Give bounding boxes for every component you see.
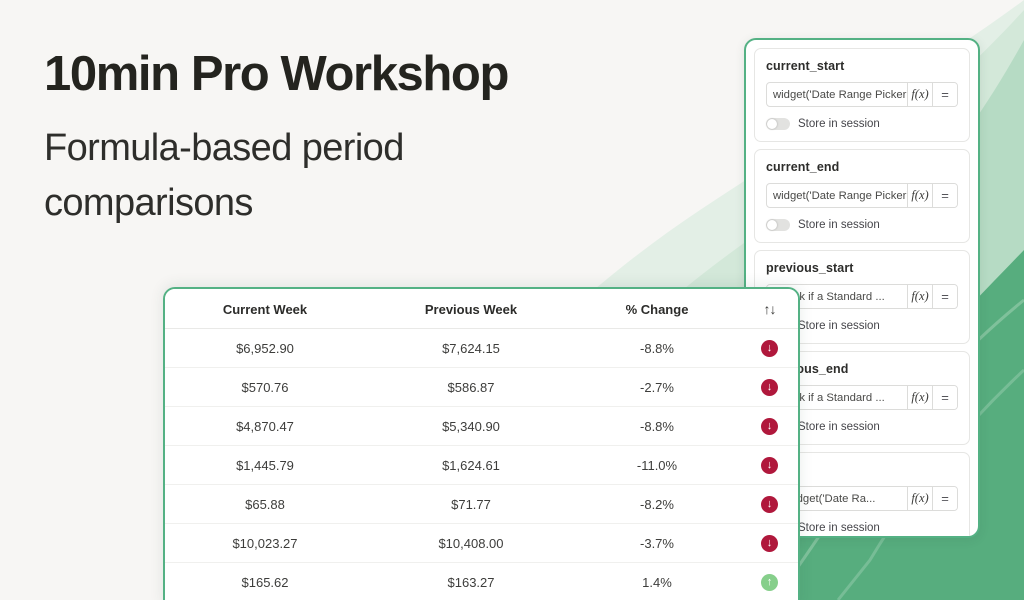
cell-percent-change: -8.8% [577, 407, 737, 446]
table-row[interactable]: $65.88$71.77-8.2%↓ [165, 485, 800, 524]
equals-button[interactable]: = [932, 285, 957, 308]
store-in-session-label: Store in session [798, 421, 880, 433]
table-row[interactable]: $1,445.79$1,624.61-11.0%↓ [165, 446, 800, 485]
headline-block: 10min Pro Workshop Formula-based period … [44, 48, 664, 231]
table-row[interactable]: $165.62$163.271.4%↑ [165, 563, 800, 600]
table-row[interactable]: $10,023.27$10,408.00-3.7%↓ [165, 524, 800, 563]
page-subtitle: Formula-based period comparisons [44, 121, 514, 231]
cell-percent-change: -8.2% [577, 485, 737, 524]
cell-previous-week: $1,624.61 [365, 446, 577, 485]
column-header-percent-change[interactable]: % Change [577, 289, 737, 329]
table-row[interactable]: $4,870.47$5,340.90-8.8%↓ [165, 407, 800, 446]
trend-up-icon: ↑ [761, 574, 778, 591]
cell-current-week: $570.76 [165, 368, 365, 407]
cell-current-week: $1,445.79 [165, 446, 365, 485]
cell-previous-week: $5,340.90 [365, 407, 577, 446]
cell-percent-change: 1.4% [577, 563, 737, 600]
cell-previous-week: $586.87 [365, 368, 577, 407]
table-row[interactable]: $6,952.90$7,624.15-8.8%↓ [165, 329, 800, 368]
trend-down-icon: ↓ [761, 496, 778, 513]
cell-trend-indicator: ↓ [737, 446, 800, 485]
function-fx-button[interactable]: f(x) [907, 487, 932, 510]
trend-down-icon: ↓ [761, 457, 778, 474]
equals-button[interactable]: = [932, 386, 957, 409]
variable-formula-input[interactable]: widget('Date Range Picker','... [767, 184, 907, 207]
cell-current-week: $10,023.27 [165, 524, 365, 563]
store-in-session-label: Store in session [798, 118, 880, 130]
table-row[interactable]: $570.76$586.87-2.7%↓ [165, 368, 800, 407]
page-title: 10min Pro Workshop [44, 48, 664, 101]
store-in-session-label: Store in session [798, 320, 880, 332]
cell-trend-indicator: ↓ [737, 368, 800, 407]
cell-trend-indicator: ↓ [737, 524, 800, 563]
cell-percent-change: -3.7% [577, 524, 737, 563]
cell-current-week: $165.62 [165, 563, 365, 600]
trend-down-icon: ↓ [761, 418, 778, 435]
function-fx-button[interactable]: f(x) [907, 386, 932, 409]
variable-input-row: widget('Date Range Picker','...f(x)= [766, 82, 958, 107]
variable-name-label: current_end [766, 160, 958, 174]
cell-current-week: $6,952.90 [165, 329, 365, 368]
equals-button[interactable]: = [932, 83, 957, 106]
column-header-current-week[interactable]: Current Week [165, 289, 365, 329]
variable-card: current_endwidget('Date Range Picker','.… [754, 149, 970, 243]
cell-previous-week: $71.77 [365, 485, 577, 524]
variable-card: current_startwidget('Date Range Picker',… [754, 48, 970, 142]
table-body: $6,952.90$7,624.15-8.8%↓$570.76$586.87-2… [165, 329, 800, 600]
store-in-session-toggle[interactable] [766, 219, 790, 231]
comparison-table-card: Current Week Previous Week % Change ↑↓ $… [163, 287, 800, 600]
cell-percent-change: -8.8% [577, 329, 737, 368]
table-header: Current Week Previous Week % Change ↑↓ [165, 289, 800, 329]
table-header-row: Current Week Previous Week % Change ↑↓ [165, 289, 800, 329]
cell-percent-change: -11.0% [577, 446, 737, 485]
store-in-session-row[interactable]: Store in session [766, 219, 958, 231]
variable-formula-input[interactable]: widget('Date Range Picker','... [767, 83, 907, 106]
cell-current-week: $65.88 [165, 485, 365, 524]
variable-name-label: previous_start [766, 261, 958, 275]
function-fx-button[interactable]: f(x) [907, 285, 932, 308]
store-in-session-toggle[interactable] [766, 118, 790, 130]
sort-toggle-icon[interactable]: ↑↓ [764, 301, 776, 317]
function-fx-button[interactable]: f(x) [907, 83, 932, 106]
column-header-sort[interactable]: ↑↓ [737, 289, 800, 329]
cell-current-week: $4,870.47 [165, 407, 365, 446]
column-header-previous-week[interactable]: Previous Week [365, 289, 577, 329]
cell-previous-week: $10,408.00 [365, 524, 577, 563]
function-fx-button[interactable]: f(x) [907, 184, 932, 207]
store-in-session-row[interactable]: Store in session [766, 118, 958, 130]
trend-down-icon: ↓ [761, 340, 778, 357]
comparison-table: Current Week Previous Week % Change ↑↓ $… [165, 289, 800, 600]
variable-input-row: widget('Date Range Picker','...f(x)= [766, 183, 958, 208]
trend-down-icon: ↓ [761, 379, 778, 396]
store-in-session-label: Store in session [798, 219, 880, 231]
trend-down-icon: ↓ [761, 535, 778, 552]
cell-trend-indicator: ↓ [737, 329, 800, 368]
equals-button[interactable]: = [932, 487, 957, 510]
cell-percent-change: -2.7% [577, 368, 737, 407]
variable-name-label: current_start [766, 59, 958, 73]
cell-previous-week: $163.27 [365, 563, 577, 600]
store-in-session-label: Store in session [798, 522, 880, 534]
equals-button[interactable]: = [932, 184, 957, 207]
cell-trend-indicator: ↓ [737, 407, 800, 446]
cell-trend-indicator: ↑ [737, 563, 800, 600]
cell-previous-week: $7,624.15 [365, 329, 577, 368]
cell-trend-indicator: ↓ [737, 485, 800, 524]
